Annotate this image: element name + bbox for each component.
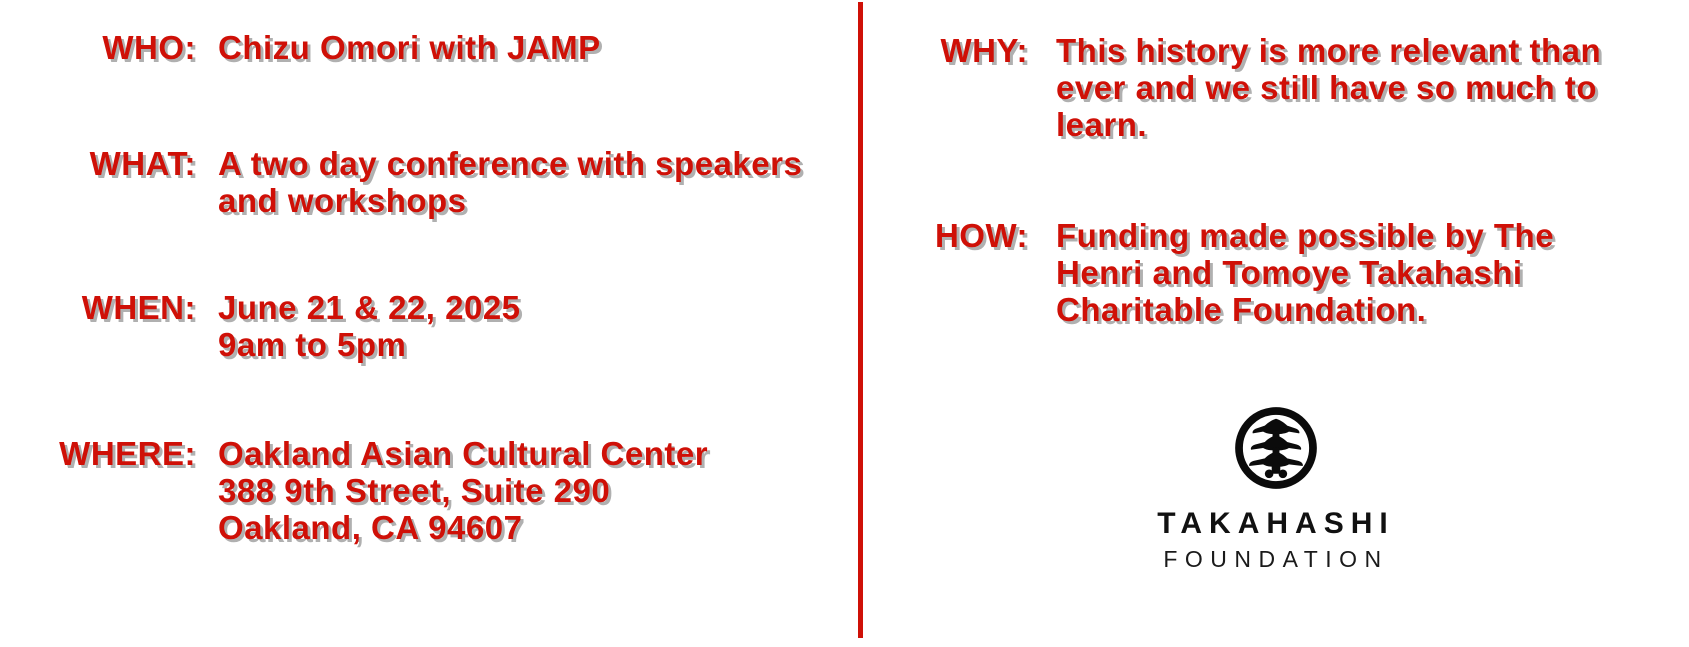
where-value: Oakland Asian Cultural Center 388 9th St… <box>196 436 858 547</box>
info-row-what: WHAT: A two day conference with speakers… <box>0 146 858 220</box>
right-column: WHY: This history is more relevant than … <box>863 0 1689 647</box>
where-label: WHERE: <box>0 436 196 473</box>
info-row-why: WHY: This history is more relevant than … <box>863 33 1689 144</box>
takahashi-pine-crest-emblem-icon <box>1233 405 1319 491</box>
who-value: Chizu Omori with JAMP <box>196 30 858 67</box>
what-label: WHAT: <box>0 146 196 183</box>
info-row-how: HOW: Funding made possible by The Henri … <box>863 218 1689 329</box>
who-label: WHO: <box>0 30 196 67</box>
when-label: WHEN: <box>0 290 196 327</box>
why-value: This history is more relevant than ever … <box>1028 33 1611 144</box>
how-label: HOW: <box>863 218 1028 255</box>
info-row-who: WHO: Chizu Omori with JAMP <box>0 30 858 67</box>
what-value: A two day conference with speakers and w… <box>196 146 858 220</box>
logo-subtitle: FOUNDATION <box>1163 548 1388 571</box>
left-column: WHO: Chizu Omori with JAMP WHAT: A two d… <box>0 0 858 647</box>
when-value: June 21 & 22, 2025 9am to 5pm <box>196 290 858 364</box>
logo-wordmark: TAKAHASHI <box>1157 509 1394 539</box>
how-value: Funding made possible by The Henri and T… <box>1028 218 1611 329</box>
info-row-when: WHEN: June 21 & 22, 2025 9am to 5pm <box>0 290 858 364</box>
info-row-where: WHERE: Oakland Asian Cultural Center 388… <box>0 436 858 547</box>
takahashi-foundation-logo: TAKAHASHI FOUNDATION <box>863 405 1689 571</box>
why-label: WHY: <box>863 33 1028 70</box>
event-info-slide: WHO: Chizu Omori with JAMP WHAT: A two d… <box>0 0 1689 647</box>
